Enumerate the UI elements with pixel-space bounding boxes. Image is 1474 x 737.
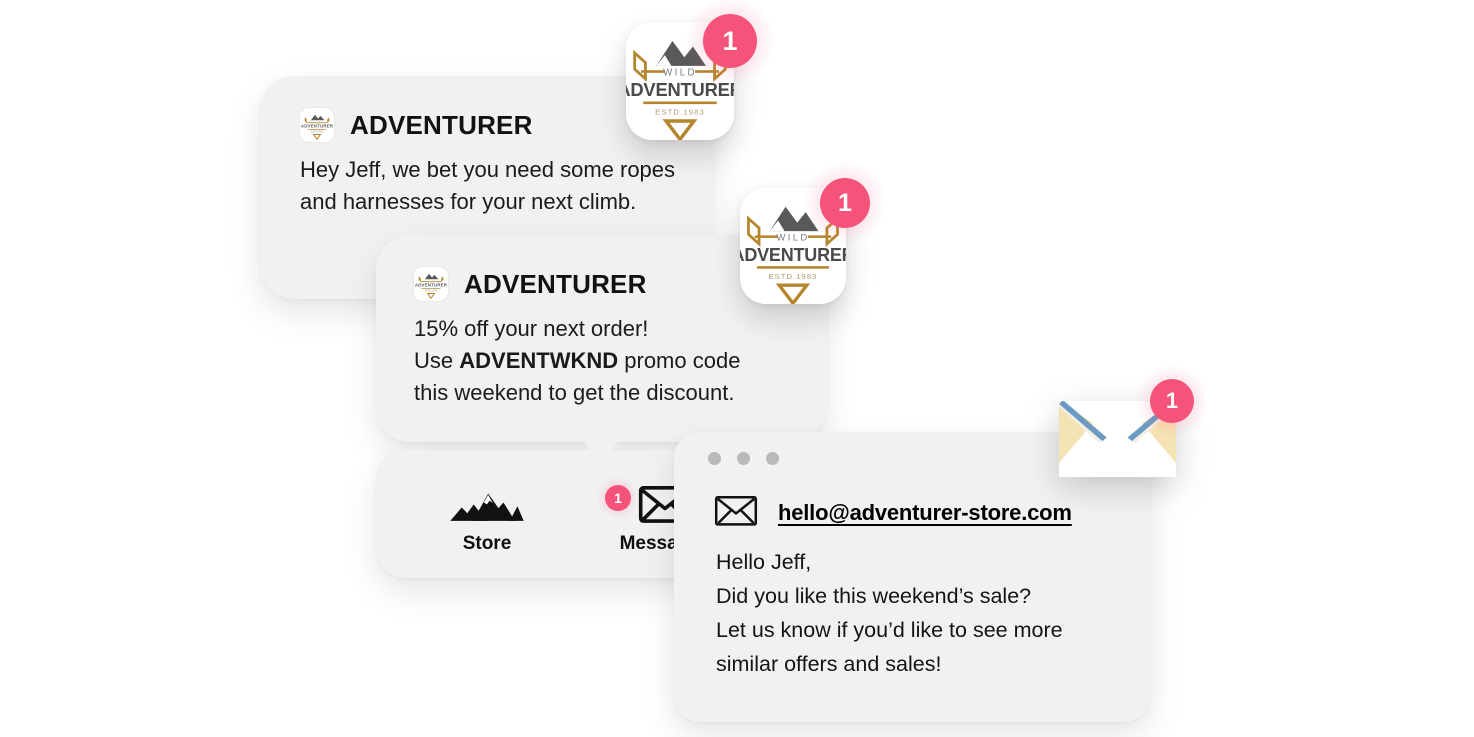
email-body-line-1: Hello Jeff, bbox=[716, 545, 1120, 579]
svg-text:WILD: WILD bbox=[776, 233, 809, 244]
notification-illustration-stage: ADVENTURER ESTD.1983 ADVENTURER Hey Jeff… bbox=[0, 0, 1474, 737]
notification-app-name: ADVENTURER bbox=[464, 269, 647, 300]
promo-suffix: promo code bbox=[618, 348, 740, 373]
notification-message: 15% off your next order! Use ADVENTWKND … bbox=[376, 301, 826, 409]
svg-text:ADVENTURER: ADVENTURER bbox=[301, 124, 334, 129]
email-body: Hello Jeff, Did you like this weekend’s … bbox=[674, 532, 1150, 681]
window-maximize-dot[interactable] bbox=[766, 452, 779, 465]
email-body-line-3: Let us know if you’d like to see more bbox=[716, 613, 1120, 647]
svg-text:ADVENTURER: ADVENTURER bbox=[415, 283, 448, 288]
messages-tab-badge: 1 bbox=[605, 485, 631, 511]
notification-app-name: ADVENTURER bbox=[350, 110, 533, 141]
promo-code: ADVENTWKND bbox=[459, 348, 618, 373]
window-minimize-dot[interactable] bbox=[737, 452, 750, 465]
adventurer-app-icon: ADVENTURER ESTD.1983 bbox=[300, 108, 334, 142]
svg-text:ESTD.1983: ESTD.1983 bbox=[311, 130, 324, 133]
tab-store[interactable]: Store bbox=[428, 484, 546, 555]
envelope-outline-icon bbox=[714, 494, 758, 532]
window-close-dot[interactable] bbox=[708, 452, 721, 465]
tab-label-store: Store bbox=[463, 533, 512, 555]
email-body-line-4: similar offers and sales! bbox=[716, 647, 1120, 681]
email-body-line-2: Did you like this weekend’s sale? bbox=[716, 579, 1120, 613]
svg-text:ESTD.1983: ESTD.1983 bbox=[769, 272, 818, 281]
adventurer-app-icon: ADVENTURER ESTD.1983 bbox=[414, 267, 448, 301]
promo-line-2: Use ADVENTWKND promo code bbox=[414, 345, 800, 377]
app-icon-badge-1: 1 bbox=[703, 14, 757, 68]
svg-text:ESTD.1983: ESTD.1983 bbox=[655, 107, 705, 116]
email-sender-address[interactable]: hello@adventurer-store.com bbox=[778, 500, 1072, 526]
notification-message: Hey Jeff, we bet you need some ropes and… bbox=[260, 142, 712, 218]
svg-text:ESTD.1983: ESTD.1983 bbox=[425, 289, 438, 292]
promo-line-3: this weekend to get the discount. bbox=[414, 377, 800, 409]
app-icon-badge-2: 1 bbox=[820, 178, 870, 228]
promo-line-1: 15% off your next order! bbox=[414, 313, 800, 345]
promo-prefix: Use bbox=[414, 348, 459, 373]
mountain-icon bbox=[449, 484, 525, 524]
envelope-illustration-badge: 1 bbox=[1150, 379, 1194, 423]
